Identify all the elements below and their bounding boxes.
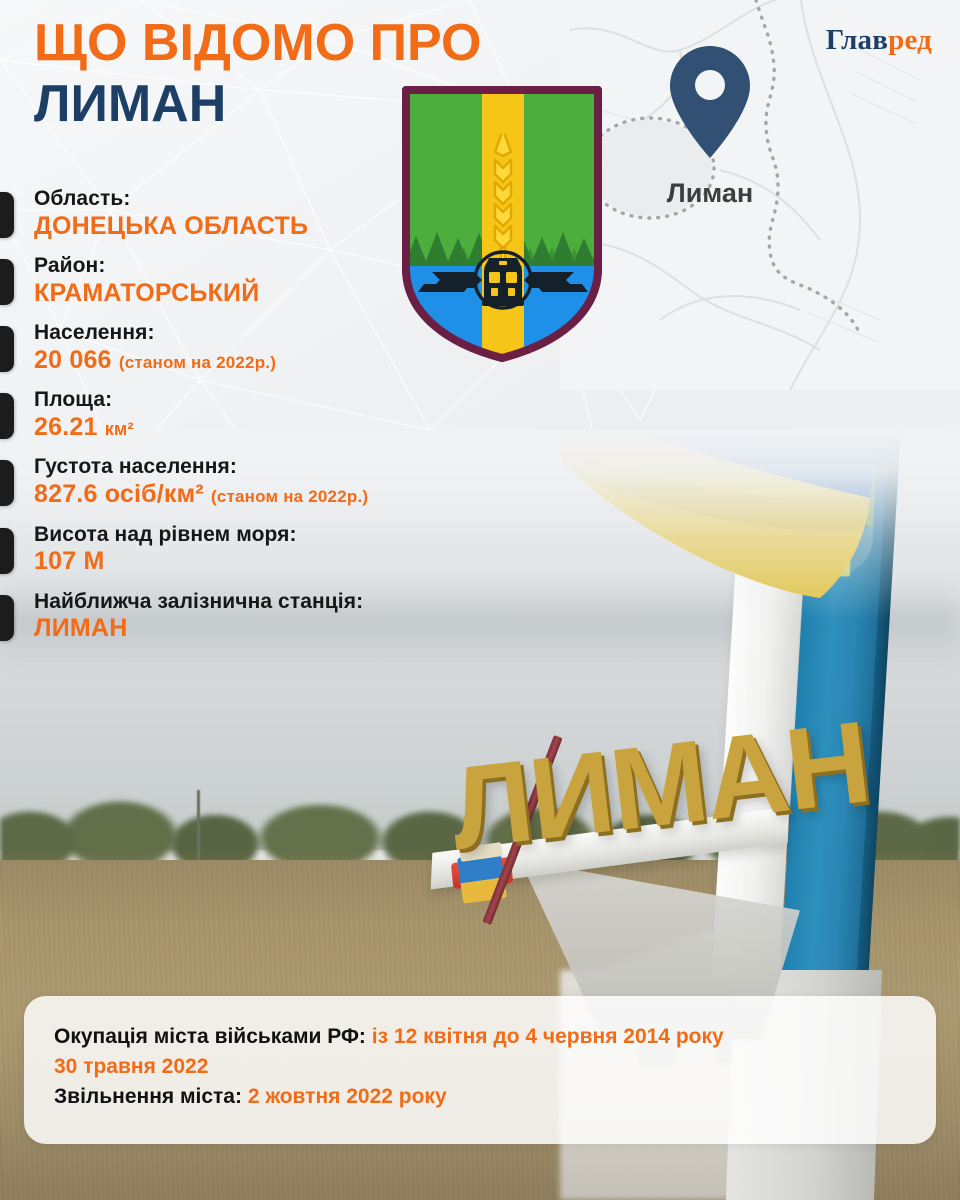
bullet-marker: [0, 595, 14, 641]
fact-label: Область:: [34, 186, 560, 212]
infographic-canvas: Лиман: [0, 0, 960, 1200]
fact-value-text: 20 066: [34, 346, 112, 374]
fact-value-text: КРАМАТОРСЬКИЙ: [34, 279, 259, 307]
map-pin-label: Лиман: [667, 178, 753, 208]
note-row-occupation: Окупація міста військами РФ: із 12 квітн…: [54, 1022, 906, 1052]
fact-value-text: 827.6 осіб/км²: [34, 480, 204, 508]
fact-item-area: Площа: 26.21 км²: [0, 387, 560, 442]
fact-value-text: ДОНЕЦЬКА ОБЛАСТЬ: [34, 212, 308, 240]
bullet-marker: [0, 528, 14, 574]
fact-label: Висота над рівнем моря:: [34, 522, 560, 548]
fact-value-text: 107 М: [34, 547, 104, 575]
fact-label: Найближча залізнична станція:: [34, 589, 560, 615]
fact-label: Район:: [34, 253, 560, 279]
fact-item-density: Густота населення: 827.6 осіб/км² (стано…: [0, 454, 560, 509]
logo-part-accent: ред: [888, 24, 932, 56]
bullet-marker: [0, 393, 14, 439]
title-line-2: ЛИМАН: [34, 79, 594, 130]
note-row-occupation-second: 30 травня 2022: [54, 1052, 906, 1082]
note-occupation-value: із 12 квітня до 4 червня 2014 року: [372, 1025, 724, 1048]
bullet-marker: [0, 192, 14, 238]
fact-item-elevation: Висота над рівнем моря: 107 М: [0, 522, 560, 577]
fact-value: 26.21 км²: [34, 413, 560, 443]
fact-label: Площа:: [34, 387, 560, 413]
fact-value: КРАМАТОРСЬКИЙ: [34, 279, 560, 309]
title-line-1: ЩО ВІДОМО ПРО: [34, 18, 594, 69]
page-title: ЩО ВІДОМО ПРО ЛИМАН: [34, 18, 594, 130]
fact-label: Населення:: [34, 320, 560, 346]
bullet-marker: [0, 326, 14, 372]
fact-value: ДОНЕЦЬКА ОБЛАСТЬ: [34, 212, 560, 242]
fact-value-note: (станом на 2022р.): [211, 487, 368, 506]
fact-value: 107 М: [34, 547, 560, 577]
bullet-marker: [0, 460, 14, 506]
fact-list: Область: ДОНЕЦЬКА ОБЛАСТЬ Район: КРАМАТО…: [0, 186, 560, 656]
fact-item-rayon: Район: КРАМАТОРСЬКИЙ: [0, 253, 560, 308]
glavred-logo[interactable]: Главред: [826, 24, 932, 57]
location-map: Лиман: [560, 0, 960, 390]
logo-part-primary: Глав: [826, 24, 888, 56]
fact-value: 827.6 осіб/км² (станом на 2022р.): [34, 480, 560, 510]
utility-pole: [197, 790, 200, 862]
fact-value-text: 26.21: [34, 413, 98, 441]
note-occupation-value-2: 30 травня 2022: [54, 1055, 208, 1078]
fact-value-note: (станом на 2022р.): [119, 353, 276, 372]
fact-label: Густота населення:: [34, 454, 560, 480]
occupation-liberation-note: Окупація міста військами РФ: із 12 квітн…: [24, 996, 936, 1144]
fact-item-population: Населення: 20 066 (станом на 2022р.): [0, 320, 560, 375]
note-occupation-label: Окупація міста військами РФ:: [54, 1025, 366, 1048]
note-liberation-label: Звільнення міста:: [54, 1085, 242, 1108]
note-liberation-value: 2 жовтня 2022 року: [248, 1085, 447, 1108]
fact-value-text: ЛИМАН: [34, 614, 127, 642]
fact-value-unit: км²: [105, 419, 134, 439]
fact-value: 20 066 (станом на 2022р.): [34, 346, 560, 376]
fact-value: ЛИМАН: [34, 614, 560, 644]
fact-item-oblast: Область: ДОНЕЦЬКА ОБЛАСТЬ: [0, 186, 560, 241]
fact-item-railway-station: Найближча залізнична станція: ЛИМАН: [0, 589, 560, 644]
note-row-liberation: Звільнення міста: 2 жовтня 2022 року: [54, 1082, 906, 1112]
bullet-marker: [0, 259, 14, 305]
